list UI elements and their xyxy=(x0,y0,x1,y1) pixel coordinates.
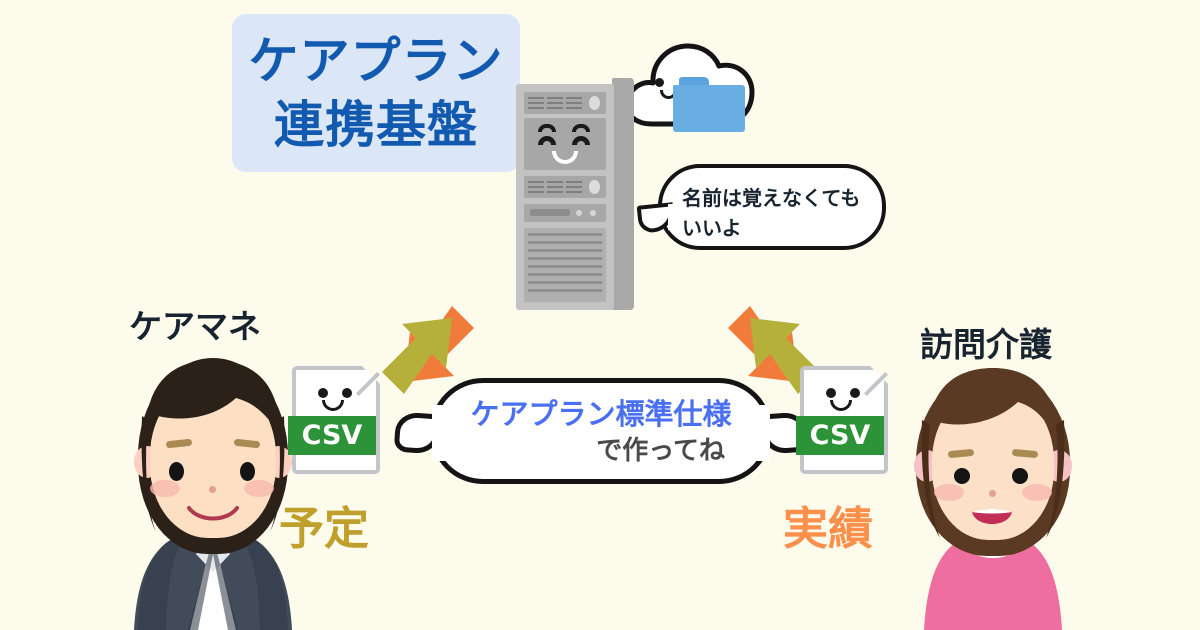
center-bubble-mask-right xyxy=(748,405,770,461)
bay-slot xyxy=(528,180,544,194)
csv-label-band-right: CSV xyxy=(796,416,884,455)
server-tower xyxy=(516,78,634,310)
bay-indicator xyxy=(589,96,600,110)
folder-body xyxy=(673,85,745,132)
bay-slot xyxy=(547,180,563,194)
csv-eye-left-2 xyxy=(342,388,352,398)
bay-slot xyxy=(566,180,582,194)
label-care-manager: ケアマネ xyxy=(129,300,261,348)
server-vent-grill xyxy=(524,228,606,302)
label-plan-flow: 予定 xyxy=(279,492,369,557)
server-optical-drive xyxy=(524,204,606,222)
arrow-olive-up-right xyxy=(382,318,452,394)
folder-icon xyxy=(673,77,745,132)
bay-slot-group-bottom xyxy=(528,180,582,194)
bay-slot xyxy=(547,96,563,110)
center-bubble-text: ケアプラン標準仕様 で作ってね xyxy=(435,395,767,469)
infographic-canvas: ケアプラン 連携基盤 xyxy=(0,0,1200,630)
server-eye-right xyxy=(572,136,590,145)
drive-slot xyxy=(530,209,570,216)
center-bubble-mask-left xyxy=(432,405,454,461)
bay-indicator xyxy=(589,180,600,194)
caregiver-cheek-right xyxy=(1022,484,1052,501)
server-face-panel xyxy=(524,118,606,170)
csv-file-icon-left: CSV xyxy=(292,366,380,474)
server-brow-left xyxy=(538,124,556,132)
care-manager-nose xyxy=(209,486,216,493)
center-speech-bubble: ケアプラン標準仕様 で作ってね xyxy=(430,378,772,484)
title-line-1: ケアプラン xyxy=(249,30,504,92)
person-home-caregiver xyxy=(900,366,1086,630)
title-line-2: 連携基盤 xyxy=(274,94,478,156)
bay-slot-group-top xyxy=(528,96,582,110)
caregiver-fringe xyxy=(900,366,1086,630)
server-drive-bay-bottom xyxy=(524,176,606,198)
server-drive-bay-top xyxy=(524,92,606,114)
caregiver-eye-left xyxy=(954,468,970,484)
caregiver-eye-right xyxy=(1012,468,1028,484)
label-home-caregiver: 訪問介護 xyxy=(920,318,1052,366)
bay-slot xyxy=(528,96,544,110)
label-result-flow: 実績 xyxy=(783,492,873,557)
title-badge: ケアプラン 連携基盤 xyxy=(232,14,520,172)
care-manager-eye-right xyxy=(240,462,255,481)
cloud-icon xyxy=(618,32,770,142)
csv-label-text-left: CSV xyxy=(302,420,363,451)
server-side-panel xyxy=(612,78,634,310)
care-manager-cheek-left xyxy=(150,480,180,497)
server-brow-right xyxy=(572,124,590,132)
csv-eye-left-1 xyxy=(318,388,328,398)
center-bubble-suffix-text: で作ってね xyxy=(435,433,767,469)
csv-label-band-left: CSV xyxy=(288,416,376,455)
drive-led xyxy=(576,210,582,216)
caregiver-cheek-left xyxy=(934,484,964,501)
csv-eye-right-1 xyxy=(826,388,836,398)
cloud-eye-left xyxy=(655,78,664,87)
server-bubble-text: 名前は覚えなくてもいいよ xyxy=(682,183,872,243)
server-bubble-tail-mask xyxy=(668,204,680,230)
caregiver-mouth xyxy=(962,504,1022,534)
csv-file-icon-right: CSV xyxy=(800,366,888,474)
server-speech-bubble: 名前は覚えなくてもいいよ xyxy=(658,164,886,250)
csv-label-text-right: CSV xyxy=(810,420,871,451)
center-bubble-spec-text: ケアプラン標準仕様 xyxy=(435,395,767,433)
caregiver-nose xyxy=(989,490,996,497)
drive-led xyxy=(590,210,596,216)
care-manager-cheek-right xyxy=(244,480,274,497)
csv-eye-right-2 xyxy=(850,388,860,398)
server-mouth xyxy=(552,151,578,164)
bay-slot xyxy=(566,96,582,110)
care-manager-mouth xyxy=(183,502,243,526)
server-eye-left xyxy=(538,136,556,145)
server-front xyxy=(516,84,614,310)
care-manager-eye-left xyxy=(169,462,184,481)
